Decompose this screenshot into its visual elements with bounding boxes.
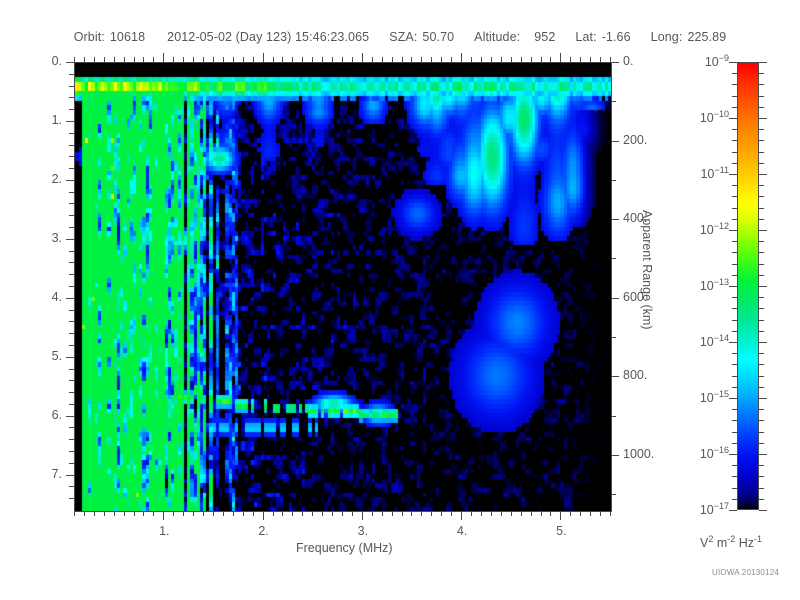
y2-tick-label-4: 800.: [623, 368, 647, 382]
x-tick-minor: [233, 511, 234, 516]
colorbar-tick-minor: [732, 241, 737, 242]
colorbar-tick-minor-right: [759, 129, 764, 130]
colorbar-gradient: [737, 62, 759, 510]
colorbar-tick-minor-right: [759, 409, 764, 410]
x-tick-top: [253, 57, 254, 62]
colorbar-tick-label-8: 10−17: [686, 501, 729, 517]
x-tick-top: [332, 57, 333, 62]
colorbar-tick-minor-right: [759, 196, 764, 197]
y-tick-minor: [69, 286, 74, 287]
y-tick-minor: [69, 439, 74, 440]
x-tick-label-1: 2.: [254, 524, 274, 538]
x-tick-top: [560, 53, 561, 62]
colorbar-tick-minor-right: [759, 297, 764, 298]
x-tick-minor: [332, 511, 333, 516]
colorbar-tick-minor-right: [759, 465, 764, 466]
x-tick-top: [610, 57, 611, 62]
x-tick-minor: [431, 511, 432, 516]
x-tick-top: [124, 57, 125, 62]
x-tick-top: [570, 57, 571, 62]
y2-tick-minor: [611, 258, 616, 259]
colorbar-tick-major-right-3: [759, 230, 767, 231]
colorbar-tick-minor-right: [759, 152, 764, 153]
colorbar-tick-minor: [732, 465, 737, 466]
x-tick-label-4: 5.: [551, 524, 571, 538]
y-tick-minor: [69, 192, 74, 193]
colorbar-tick-minor-right: [759, 432, 764, 433]
y-tick-label-6: 6.: [0, 408, 62, 422]
x-tick-top: [481, 57, 482, 62]
x-tick-major-4: [560, 511, 561, 520]
ionogram-heatmap-canvas: [75, 63, 611, 511]
x-tick-minor: [352, 511, 353, 516]
x-tick-minor: [312, 511, 313, 516]
colorbar-tick-major-right-6: [759, 398, 767, 399]
x-tick-minor: [173, 511, 174, 516]
x-tick-minor: [570, 511, 571, 516]
y-tick-minor: [69, 215, 74, 216]
colorbar-tick-major-6: [729, 398, 737, 399]
colorbar-tick-minor-right: [759, 308, 764, 309]
x-tick-top: [163, 53, 164, 62]
y-tick-minor: [69, 156, 74, 157]
y2-tick-major-0: [611, 62, 619, 63]
y-tick-label-2: 2.: [0, 172, 62, 186]
y-tick-major-5: [66, 357, 74, 358]
y-tick-minor: [69, 404, 74, 405]
x-tick-top: [213, 57, 214, 62]
colorbar-tick-minor-right: [759, 208, 764, 209]
y-tick-minor: [69, 321, 74, 322]
x-tick-minor: [74, 511, 75, 516]
header-field-altitude: Altitude:952: [454, 30, 555, 44]
colorbar-tick-minor-right: [759, 140, 764, 141]
colorbar-tick-minor: [732, 353, 737, 354]
x-tick-minor: [610, 511, 611, 516]
x-tick-top: [402, 57, 403, 62]
y2-tick-major-3: [611, 298, 619, 299]
header-field-long: Long:225.89: [631, 30, 727, 44]
y2-tick-minor: [611, 101, 616, 102]
y2-tick-major-4: [611, 376, 619, 377]
colorbar-tick-label-3: 10−12: [686, 221, 729, 237]
colorbar: [737, 62, 759, 510]
y-tick-label-1: 1.: [0, 113, 62, 127]
ionogram-plot-area: [74, 62, 612, 512]
y2-tick-major-2: [611, 219, 619, 220]
colorbar-tick-minor: [732, 476, 737, 477]
header-value-orbit: 10618: [110, 30, 145, 44]
header-label-long: Long:: [651, 30, 683, 44]
colorbar-tick-minor-right: [759, 364, 764, 365]
colorbar-tick-minor-right: [759, 387, 764, 388]
y-tick-minor: [69, 392, 74, 393]
x-tick-minor: [253, 511, 254, 516]
colorbar-tick-minor-right: [759, 353, 764, 354]
colorbar-tick-minor-right: [759, 275, 764, 276]
x-tick-minor: [481, 511, 482, 516]
header-field-timestamp: 2012-05-02 (Day 123) 15:46:23.065: [145, 30, 369, 44]
colorbar-tick-minor: [732, 275, 737, 276]
x-tick-minor: [402, 511, 403, 516]
x-tick-top: [322, 57, 323, 62]
colorbar-tick-label-4: 10−13: [686, 277, 729, 293]
y2-tick-label-1: 200.: [623, 133, 647, 147]
y-tick-minor: [69, 109, 74, 110]
colorbar-tick-minor: [732, 331, 737, 332]
colorbar-tick-major-0: [729, 62, 737, 63]
header-label-orbit: Orbit:: [74, 30, 105, 44]
x-tick-minor: [322, 511, 323, 516]
colorbar-tick-minor: [732, 140, 737, 141]
x-tick-minor: [471, 511, 472, 516]
colorbar-tick-minor: [732, 308, 737, 309]
colorbar-tick-minor: [732, 219, 737, 220]
y-tick-minor: [69, 145, 74, 146]
x-tick-minor: [223, 511, 224, 516]
colorbar-tick-minor: [732, 73, 737, 74]
y-tick-minor: [69, 74, 74, 75]
colorbar-tick-minor: [732, 376, 737, 377]
x-tick-top: [292, 57, 293, 62]
x-tick-major-3: [461, 511, 462, 520]
x-tick-minor: [521, 511, 522, 516]
x-tick-minor: [243, 511, 244, 516]
y-tick-minor: [69, 86, 74, 87]
header-value-timestamp: 2012-05-02 (Day 123) 15:46:23.065: [167, 30, 369, 44]
y2-tick-minor: [611, 494, 616, 495]
x-tick-minor: [511, 511, 512, 516]
x-tick-top: [134, 57, 135, 62]
x-tick-top: [104, 57, 105, 62]
header-value-lat: -1.66: [602, 30, 631, 44]
x-tick-minor: [411, 511, 412, 516]
x-tick-minor: [193, 511, 194, 516]
colorbar-tick-minor-right: [759, 443, 764, 444]
x-tick-minor: [590, 511, 591, 516]
colorbar-tick-minor-right: [759, 252, 764, 253]
colorbar-tick-minor-right: [759, 264, 764, 265]
x-tick-minor: [541, 511, 542, 516]
y-tick-label-7: 7.: [0, 467, 62, 481]
header-value-altitude: 952: [534, 30, 555, 44]
y2-tick-minor: [611, 180, 616, 181]
colorbar-tick-minor-right: [759, 163, 764, 164]
colorbar-tick-minor: [732, 252, 737, 253]
x-tick-top: [342, 57, 343, 62]
x-tick-top: [491, 57, 492, 62]
y-tick-major-0: [66, 62, 74, 63]
x-tick-top: [541, 57, 542, 62]
x-tick-minor: [531, 511, 532, 516]
x-tick-top: [590, 57, 591, 62]
x-tick-top: [94, 57, 95, 62]
colorbar-tick-minor-right: [759, 107, 764, 108]
colorbar-tick-minor: [732, 387, 737, 388]
x-tick-top: [372, 57, 373, 62]
x-tick-minor: [501, 511, 502, 516]
colorbar-tick-minor-right: [759, 499, 764, 500]
colorbar-tick-minor-right: [759, 219, 764, 220]
y-tick-label-5: 5.: [0, 349, 62, 363]
y-tick-minor: [69, 369, 74, 370]
colorbar-tick-minor: [732, 432, 737, 433]
x-tick-minor: [441, 511, 442, 516]
colorbar-tick-minor-right: [759, 376, 764, 377]
y-tick-minor: [69, 251, 74, 252]
x-tick-minor: [153, 511, 154, 516]
x-tick-top: [114, 57, 115, 62]
x-tick-top: [531, 57, 532, 62]
colorbar-tick-minor: [732, 488, 737, 489]
x-tick-minor: [292, 511, 293, 516]
y-tick-major-1: [66, 121, 74, 122]
y2-tick-minor: [611, 416, 616, 417]
colorbar-tick-minor: [732, 185, 737, 186]
x-tick-minor: [273, 511, 274, 516]
colorbar-tick-minor: [732, 107, 737, 108]
y2-tick-label-5: 1000.: [623, 447, 654, 461]
colorbar-tick-label-0: 10−9: [686, 53, 729, 69]
colorbar-tick-major-1: [729, 118, 737, 119]
y-tick-minor: [69, 227, 74, 228]
y-tick-minor: [69, 486, 74, 487]
x-tick-minor: [203, 511, 204, 516]
colorbar-tick-minor-right: [759, 185, 764, 186]
header-label-lat: Lat:: [575, 30, 596, 44]
colorbar-tick-minor: [732, 208, 737, 209]
x-tick-minor: [342, 511, 343, 516]
colorbar-tick-label-5: 10−14: [686, 333, 729, 349]
colorbar-tick-minor: [732, 420, 737, 421]
y-tick-minor: [69, 380, 74, 381]
y-tick-minor: [69, 274, 74, 275]
x-tick-top: [84, 57, 85, 62]
header-value-sza: 50.70: [422, 30, 454, 44]
x-tick-minor: [104, 511, 105, 516]
colorbar-tick-label-6: 10−15: [686, 389, 729, 405]
y-tick-major-4: [66, 298, 74, 299]
y-tick-major-7: [66, 475, 74, 476]
x-tick-minor: [392, 511, 393, 516]
x-tick-minor: [183, 511, 184, 516]
x-tick-top: [511, 57, 512, 62]
x-tick-top: [312, 57, 313, 62]
colorbar-tick-major-8: [729, 510, 737, 511]
y-tick-label-4: 4.: [0, 290, 62, 304]
colorbar-tick-minor-right: [759, 96, 764, 97]
colorbar-tick-minor: [732, 84, 737, 85]
y-tick-major-6: [66, 416, 74, 417]
x-tick-minor: [382, 511, 383, 516]
colorbar-tick-minor: [732, 443, 737, 444]
colorbar-tick-label-7: 10−16: [686, 445, 729, 461]
x-tick-minor: [421, 511, 422, 516]
y2-tick-major-1: [611, 141, 619, 142]
colorbar-unit-label: V2 m-2 Hz-1: [700, 534, 762, 550]
x-tick-top: [223, 57, 224, 62]
footer-credit: UIOWA 20130124: [712, 568, 779, 577]
colorbar-tick-major-5: [729, 342, 737, 343]
colorbar-tick-minor-right: [759, 241, 764, 242]
x-tick-top: [441, 57, 442, 62]
x-tick-minor: [600, 511, 601, 516]
x-tick-top: [501, 57, 502, 62]
colorbar-tick-major-right-7: [759, 454, 767, 455]
colorbar-tick-major-right-4: [759, 286, 767, 287]
colorbar-tick-label-1: 10−10: [686, 109, 729, 125]
y2-tick-major-5: [611, 455, 619, 456]
header-field-sza: SZA:50.70: [369, 30, 454, 44]
x-tick-top: [243, 57, 244, 62]
x-tick-top: [183, 57, 184, 62]
x-tick-minor: [84, 511, 85, 516]
colorbar-tick-minor: [732, 364, 737, 365]
colorbar-tick-minor: [732, 264, 737, 265]
colorbar-tick-major-right-8: [759, 510, 767, 511]
header-label-altitude: Altitude:: [474, 30, 520, 44]
x-tick-minor: [114, 511, 115, 516]
colorbar-tick-minor: [732, 163, 737, 164]
colorbar-tick-major-2: [729, 174, 737, 175]
y-tick-label-0: 0.: [0, 54, 62, 68]
colorbar-tick-minor: [732, 196, 737, 197]
x-tick-top: [411, 57, 412, 62]
x-tick-top: [273, 57, 274, 62]
x-axis-title-frequency: Frequency (MHz): [296, 541, 393, 555]
x-tick-top: [451, 57, 452, 62]
y-tick-minor: [69, 133, 74, 134]
y-tick-minor: [69, 498, 74, 499]
x-tick-minor: [491, 511, 492, 516]
x-tick-top: [471, 57, 472, 62]
y-tick-minor: [69, 168, 74, 169]
colorbar-tick-label-2: 10−11: [686, 165, 729, 181]
colorbar-tick-minor: [732, 297, 737, 298]
x-tick-top: [580, 57, 581, 62]
header-field-orbit: Orbit:10618: [74, 30, 145, 44]
colorbar-tick-minor: [732, 409, 737, 410]
y-tick-minor: [69, 451, 74, 452]
x-tick-top: [352, 57, 353, 62]
x-tick-minor: [302, 511, 303, 516]
y-tick-minor: [69, 345, 74, 346]
colorbar-tick-minor-right: [759, 73, 764, 74]
colorbar-tick-minor-right: [759, 488, 764, 489]
x-tick-top: [461, 53, 462, 62]
colorbar-tick-minor-right: [759, 84, 764, 85]
x-tick-major-2: [362, 511, 363, 520]
y-tick-minor: [69, 97, 74, 98]
x-tick-top: [74, 57, 75, 62]
x-tick-top: [153, 57, 154, 62]
x-tick-top: [173, 57, 174, 62]
colorbar-tick-major-7: [729, 454, 737, 455]
x-tick-top: [521, 57, 522, 62]
x-tick-major-1: [263, 511, 264, 520]
x-tick-label-3: 4.: [452, 524, 472, 538]
x-tick-minor: [213, 511, 214, 516]
y-tick-minor: [69, 463, 74, 464]
y2-axis-title-apparent-range: Apparent Range (km): [640, 210, 654, 330]
colorbar-tick-minor: [732, 152, 737, 153]
x-tick-top: [421, 57, 422, 62]
x-tick-minor: [143, 511, 144, 516]
x-tick-top: [203, 57, 204, 62]
x-tick-minor: [124, 511, 125, 516]
colorbar-tick-minor: [732, 320, 737, 321]
x-tick-minor: [282, 511, 283, 516]
x-tick-minor: [94, 511, 95, 516]
colorbar-tick-major-right-1: [759, 118, 767, 119]
y-tick-minor: [69, 333, 74, 334]
y-tick-minor: [69, 427, 74, 428]
y2-tick-label-0: 0.: [623, 54, 633, 68]
colorbar-tick-major-right-5: [759, 342, 767, 343]
colorbar-tick-minor: [732, 129, 737, 130]
x-tick-minor: [580, 511, 581, 516]
colorbar-tick-minor-right: [759, 320, 764, 321]
y-tick-major-2: [66, 180, 74, 181]
x-tick-major-0: [163, 511, 164, 520]
x-tick-top: [382, 57, 383, 62]
colorbar-tick-minor-right: [759, 331, 764, 332]
x-tick-top: [600, 57, 601, 62]
x-tick-minor: [372, 511, 373, 516]
header-field-lat: Lat:-1.66: [555, 30, 630, 44]
header-metadata-line: Orbit:106182012-05-02 (Day 123) 15:46:23…: [0, 30, 800, 44]
y2-tick-minor: [611, 337, 616, 338]
header-value-long: 225.89: [687, 30, 726, 44]
colorbar-tick-minor-right: [759, 420, 764, 421]
colorbar-tick-minor: [732, 96, 737, 97]
x-tick-top: [362, 53, 363, 62]
x-tick-label-0: 1.: [154, 524, 174, 538]
x-tick-label-2: 3.: [353, 524, 373, 538]
x-tick-top: [143, 57, 144, 62]
colorbar-tick-major-3: [729, 230, 737, 231]
y-tick-major-3: [66, 239, 74, 240]
colorbar-tick-minor: [732, 499, 737, 500]
x-tick-top: [392, 57, 393, 62]
y-tick-minor: [69, 262, 74, 263]
colorbar-tick-major-right-2: [759, 174, 767, 175]
x-tick-minor: [451, 511, 452, 516]
header-label-sza: SZA:: [389, 30, 417, 44]
x-tick-top: [282, 57, 283, 62]
x-tick-minor: [550, 511, 551, 516]
x-tick-top: [193, 57, 194, 62]
colorbar-tick-minor-right: [759, 476, 764, 477]
x-tick-top: [233, 57, 234, 62]
x-tick-top: [431, 57, 432, 62]
y-tick-minor: [69, 203, 74, 204]
x-tick-top: [302, 57, 303, 62]
y-tick-minor: [69, 310, 74, 311]
colorbar-tick-major-4: [729, 286, 737, 287]
y-tick-label-3: 3.: [0, 231, 62, 245]
x-tick-top: [550, 57, 551, 62]
x-tick-minor: [134, 511, 135, 516]
x-tick-top: [263, 53, 264, 62]
colorbar-tick-major-right-0: [759, 62, 767, 63]
